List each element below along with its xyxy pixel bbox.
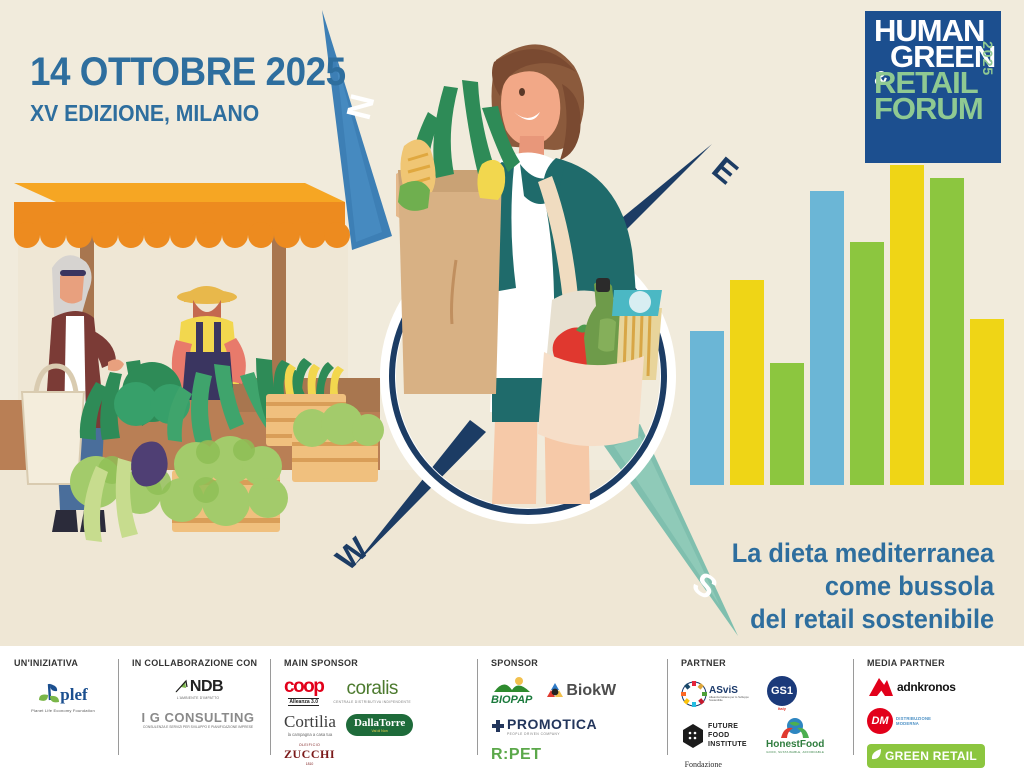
logo-text-forum: FORUM [874, 91, 983, 126]
logo-distribuzione-moderna[interactable]: DM DISTRIBUZIONE MODERNA [867, 708, 938, 734]
event-date: 14 OTTOBRE 2025 [30, 52, 346, 92]
dallatorre-wordmark: DallaTorre [354, 717, 405, 729]
coop-wordmark: coop [284, 676, 323, 698]
biopap-wordmark: BIOPAP [491, 694, 532, 706]
poster-canvas: N E S W 14 OTTOBRE 2025 XV EDIZIONE, MIL… [0, 0, 1024, 768]
dm-wordmark: DM [871, 715, 888, 727]
logo-year: 2025 [980, 41, 996, 76]
coralis-wordmark: coralis [347, 678, 398, 700]
dm-badge-icon: DM [867, 708, 893, 734]
asvis-subtext: Alleanza Italiana per lo Sviluppo Sosten… [709, 696, 757, 703]
footer-column-sponsor: SPONSOR BIOPAP BiokW [477, 646, 667, 768]
footer-heading-iniziativa: UN'INIZIATIVA [14, 658, 112, 668]
ndb-subtext: L'AMBIENTE D'IMPATTO [177, 696, 219, 700]
asvis-wheel-icon [681, 681, 707, 707]
ndb-wordmark: NDB [190, 678, 223, 696]
plef-subtext: Planet Life Economy Foundation [31, 708, 95, 713]
logo-dallatorre[interactable]: DallaTorre Val di Non [346, 714, 413, 736]
gs1-badge-icon: GS1 [767, 676, 797, 706]
logo-green-retail[interactable]: GREEN RETAIL [867, 744, 985, 768]
ndb-arrow-icon [173, 679, 189, 695]
honestfood-subtext: GOOD, SUSTAINABLE, AFFORDABLE [766, 750, 824, 754]
logo-cortilia[interactable]: Cortilia la campagna a casa tua [284, 712, 336, 737]
ig-consulting-wordmark: I G CONSULTING [142, 710, 255, 725]
logo-ndb[interactable]: NDB L'AMBIENTE D'IMPATTO [173, 678, 223, 700]
footer-heading-collaborazione: IN COLLABORAZIONE CON [132, 658, 264, 668]
bar-8 [970, 319, 1004, 485]
dallatorre-subtext: Val di Non [371, 729, 387, 733]
plef-leaf-icon [38, 682, 60, 708]
adnkronos-wordmark: adnkronos [897, 680, 956, 694]
logo-plef[interactable]: plef Planet Life Economy Foundation [31, 682, 95, 713]
honestfood-globe-icon [778, 717, 812, 739]
event-tagline: La dieta mediterranea come bussola del r… [732, 537, 994, 636]
ig-consulting-subtext: CONSULENZA E SERVIZI PER SVILUPPO E PIAN… [138, 725, 258, 729]
biokw-recycle-icon [546, 682, 564, 700]
tagline-line-2: come bussola [732, 570, 994, 603]
logo-biopap[interactable]: BIOPAP [491, 676, 532, 706]
tagline-line-1: La dieta mediterranea [732, 537, 994, 570]
footer-heading-partner: PARTNER [681, 658, 847, 668]
promotica-wordmark: PROMOTICA [507, 716, 597, 732]
logo-coop[interactable]: coop Alleanza 3.0 [284, 676, 323, 706]
ropet-wordmark: R:PET [491, 746, 542, 764]
green-retail-leaf-icon [871, 748, 883, 764]
footer-column-collaborazione: IN COLLABORAZIONE CON NDB L'AMBIENTE D'I… [118, 646, 270, 768]
awning-top [14, 183, 345, 202]
logo-ropet[interactable]: R:PET [491, 746, 542, 764]
footer-column-partner: PARTNER [667, 646, 853, 768]
logo-gs1[interactable]: GS1 Italy [767, 676, 797, 711]
logo-adnkronos[interactable]: adnkronos [867, 676, 956, 698]
bar-3 [770, 363, 804, 485]
event-edition: XV EDIZIONE, MILANO [30, 102, 346, 125]
asvis-wordmark: ASviS [709, 685, 757, 696]
zucchi-year: 1810 [306, 762, 314, 766]
green-retail-wordmark: GREEN RETAIL [885, 749, 977, 763]
footer-column-main-sponsor: MAIN SPONSOR coop Alleanza 3.0 coralis C… [270, 646, 477, 768]
bar-6 [890, 165, 924, 485]
event-date-block: 14 OTTOBRE 2025 XV EDIZIONE, MILANO [30, 52, 373, 125]
logo-future-food-institute[interactable]: FUTURE FOOD INSTITUTE [681, 722, 756, 749]
footer-column-media-partner: MEDIA PARTNER adnkronos DM DISTRIBUZIONE… [853, 646, 1024, 768]
biopap-hills-icon [492, 676, 532, 694]
gs1-subtext: Italy [778, 706, 786, 711]
tagline-line-3: del retail sostenibile [732, 603, 994, 636]
logo-zucchi[interactable]: OLEIFICIO ZUCCHI 1810 [284, 743, 335, 766]
dm-subtext: DISTRIBUZIONE MODERNA [896, 716, 938, 726]
bar-5 [850, 242, 884, 485]
fondazione-wordmark: Fondazione [685, 760, 722, 768]
future-food-wordmark: FUTURE FOOD INSTITUTE [708, 722, 756, 749]
promotica-cross-icon [491, 719, 505, 733]
zucchi-wordmark: ZUCCHI [284, 747, 335, 762]
coop-subtext: Alleanza 3.0 [288, 698, 319, 706]
bar-2 [730, 280, 764, 485]
logo-biokw[interactable]: BiokW [546, 682, 616, 700]
future-food-hex-icon [681, 723, 705, 749]
footer-heading-sponsor: SPONSOR [491, 658, 661, 668]
plef-wordmark: plef [60, 685, 87, 705]
logo-fondazione-unimi[interactable]: Fondazione UNIMI [681, 760, 726, 768]
footer-heading-media-partner: MEDIA PARTNER [867, 658, 1018, 668]
cortilia-wordmark: Cortilia [284, 712, 336, 732]
bar-chart [690, 165, 1020, 485]
bar-7 [930, 178, 964, 485]
coralis-subtext: CENTRALE DISTRIBUTIVA INDIPENDENTE [333, 700, 411, 704]
adnkronos-mark-icon [867, 676, 895, 698]
logo-line-forum: FORUM [874, 96, 993, 122]
bar-1 [690, 331, 724, 485]
event-logo[interactable]: HUMAN & GREEN RETAIL FORUM 2025 [865, 11, 1001, 163]
footer-column-iniziativa: UN'INIZIATIVA plef Planet Life Economy F… [0, 646, 118, 768]
corn [477, 160, 505, 200]
logo-asvis[interactable]: ASviS Alleanza Italiana per lo Sviluppo … [681, 681, 757, 707]
footer-heading-main-sponsor: MAIN SPONSOR [284, 658, 471, 668]
logo-honestfood[interactable]: HonestFood GOOD, SUSTAINABLE, AFFORDABLE [766, 717, 824, 754]
gs1-wordmark: GS1 [771, 685, 793, 697]
logo-coralis[interactable]: coralis CENTRALE DISTRIBUTIVA INDIPENDEN… [333, 678, 411, 704]
biokw-wordmark: BiokW [566, 682, 616, 700]
crate-center-lettuce [292, 403, 384, 482]
sponsors-footer: UN'INIZIATIVA plef Planet Life Economy F… [0, 646, 1024, 768]
cortilia-subtext: la campagna a casa tua [288, 732, 332, 737]
logo-ig-consulting[interactable]: I G CONSULTING CONSULENZA E SERVIZI PER … [138, 710, 258, 729]
honestfood-wordmark: HonestFood [766, 739, 824, 750]
bar-4 [810, 191, 844, 485]
promotica-subtext: PEOPLE DRIVEN COMPANY [507, 732, 560, 736]
logo-promotica[interactable]: PROMOTICA PEOPLE DRIVEN COMPANY [491, 716, 597, 736]
